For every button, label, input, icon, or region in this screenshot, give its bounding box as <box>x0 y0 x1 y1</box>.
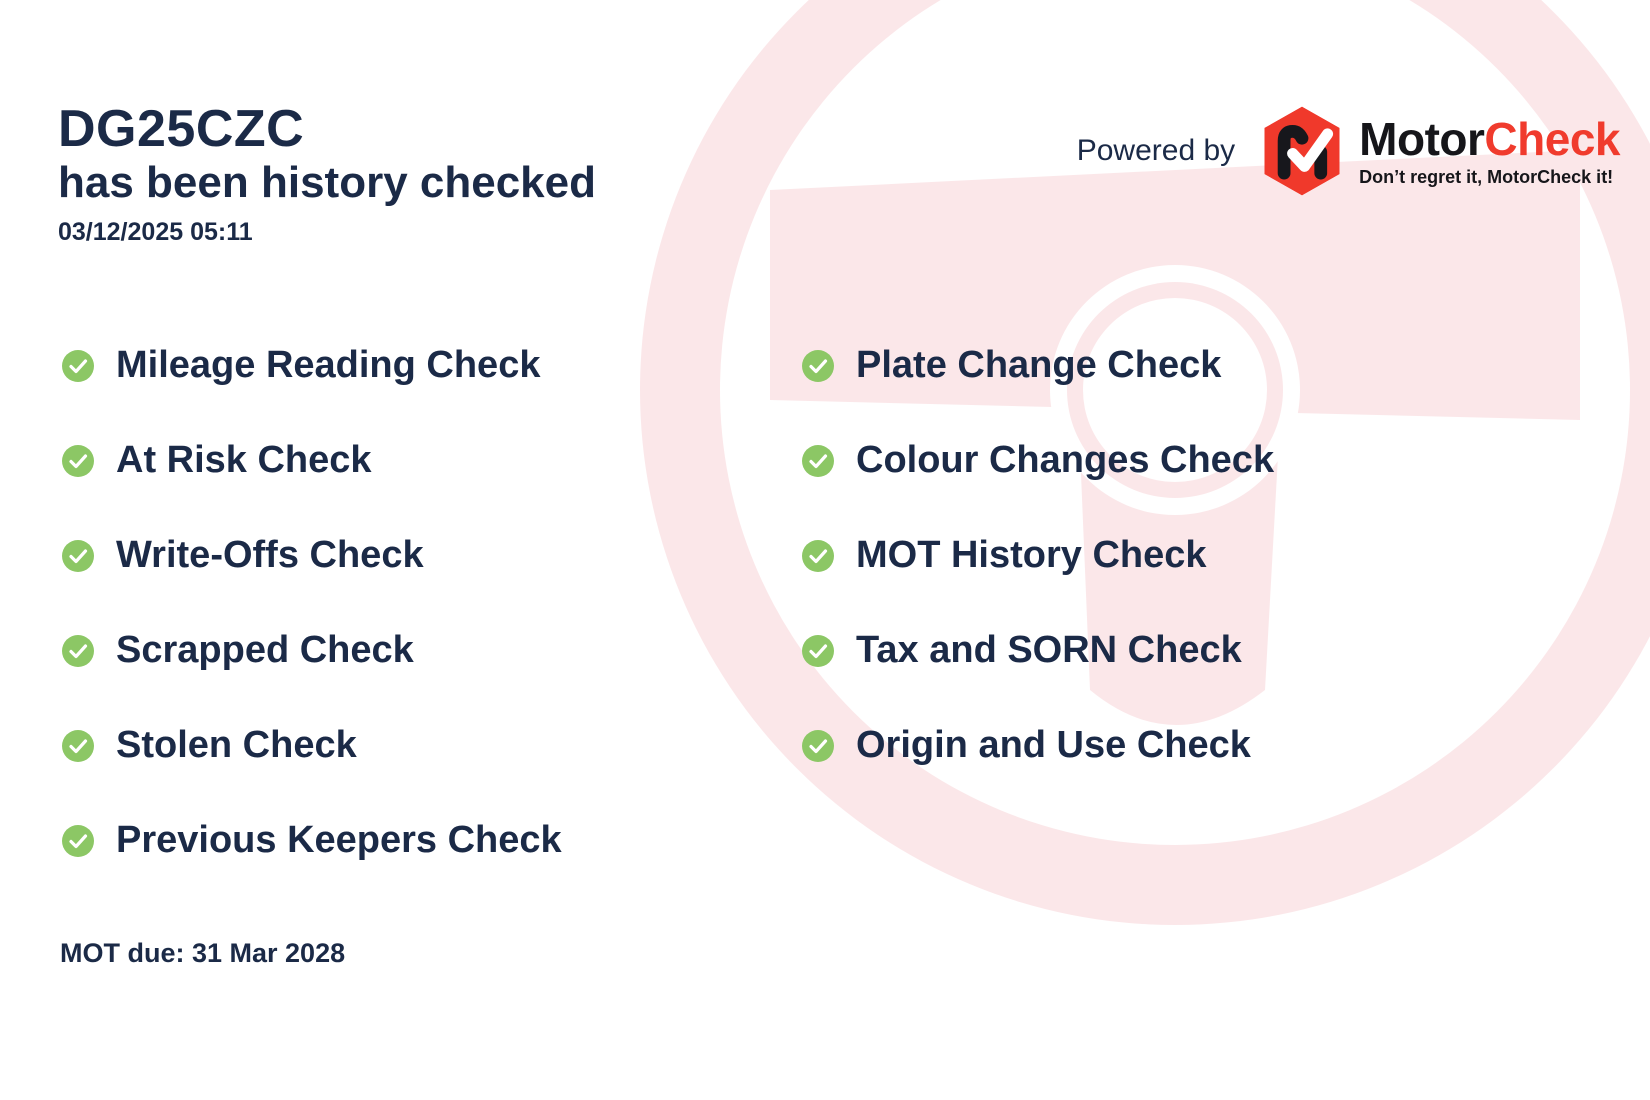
check-circle-icon <box>802 635 834 667</box>
check-item: Colour Changes Check <box>802 413 1580 508</box>
check-circle-icon <box>802 730 834 762</box>
check-item-label: Write-Offs Check <box>116 534 424 577</box>
check-circle-icon <box>62 540 94 572</box>
check-item-label: Plate Change Check <box>856 344 1221 387</box>
powered-by-label: Powered by <box>1077 134 1235 168</box>
check-circle-icon <box>802 540 834 572</box>
check-item: At Risk Check <box>62 413 750 508</box>
check-item-label: Previous Keepers Check <box>116 819 562 862</box>
motorcheck-wordmark-block: MotorCheck Don’t regret it, MotorCheck i… <box>1359 116 1620 186</box>
check-item: Origin and Use Check <box>802 698 1580 793</box>
page-title: has been history checked <box>58 158 596 207</box>
motorcheck-logo[interactable]: MotorCheck Don’t regret it, MotorCheck i… <box>1259 105 1620 197</box>
check-circle-icon <box>62 445 94 477</box>
motorcheck-hexagon-icon <box>1259 105 1345 197</box>
mot-due-note: MOT due: 31 Mar 2028 <box>60 938 345 969</box>
wordmark-check: Check <box>1484 113 1620 165</box>
check-item: Scrapped Check <box>62 603 750 698</box>
check-item-label: Origin and Use Check <box>856 724 1251 767</box>
check-item-label: Scrapped Check <box>116 629 414 672</box>
check-circle-icon <box>802 445 834 477</box>
checks-left-column: Mileage Reading Check At Risk Check Writ… <box>0 318 750 888</box>
check-circle-icon <box>62 350 94 382</box>
check-item-label: Mileage Reading Check <box>116 344 540 387</box>
check-item: Previous Keepers Check <box>62 793 750 888</box>
checks-right-column: Plate Change Check Colour Changes Check … <box>750 318 1580 888</box>
motorcheck-wordmark: MotorCheck <box>1359 116 1620 162</box>
check-item-label: Colour Changes Check <box>856 439 1274 482</box>
check-item: Stolen Check <box>62 698 750 793</box>
checks-container: Mileage Reading Check At Risk Check Writ… <box>0 318 1650 888</box>
vehicle-history-check-card: DG25CZC has been history checked 03/12/2… <box>0 0 1650 1100</box>
wordmark-motor: Motor <box>1359 113 1484 165</box>
check-item-label: MOT History Check <box>856 534 1207 577</box>
plate-block: DG25CZC has been history checked 03/12/2… <box>58 100 596 247</box>
check-circle-icon <box>802 350 834 382</box>
check-circle-icon <box>62 730 94 762</box>
check-item-label: Tax and SORN Check <box>856 629 1242 672</box>
check-item-label: At Risk Check <box>116 439 372 482</box>
check-item: Plate Change Check <box>802 318 1580 413</box>
check-item: Mileage Reading Check <box>62 318 750 413</box>
check-circle-icon <box>62 825 94 857</box>
check-item: Tax and SORN Check <box>802 603 1580 698</box>
brand-tagline: Don’t regret it, MotorCheck it! <box>1359 168 1620 186</box>
check-timestamp: 03/12/2025 05:11 <box>58 218 596 247</box>
powered-by-row: Powered by MotorCheck Don’t regret it, M… <box>1077 105 1620 197</box>
registration-plate: DG25CZC <box>58 100 596 158</box>
check-circle-icon <box>62 635 94 667</box>
check-item: Write-Offs Check <box>62 508 750 603</box>
check-item: MOT History Check <box>802 508 1580 603</box>
check-item-label: Stolen Check <box>116 724 357 767</box>
